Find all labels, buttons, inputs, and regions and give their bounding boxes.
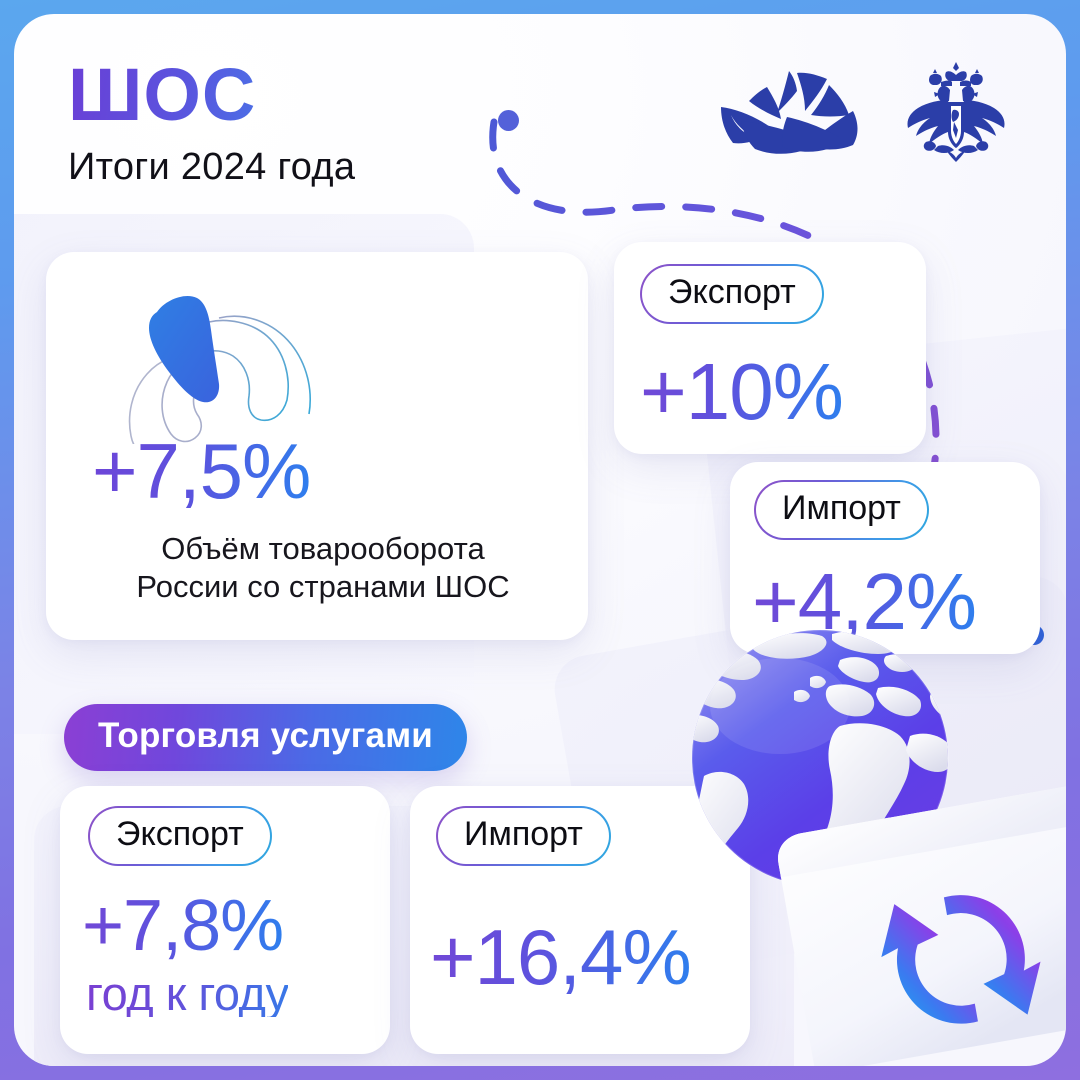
- goods-import-value: +4,2%: [752, 562, 976, 642]
- russian-coat-of-arms-icon: [902, 58, 1010, 168]
- header: ШОС Итоги 2024 года: [68, 58, 355, 189]
- turnover-caption-line2: России со странами ШОС: [88, 568, 558, 606]
- poster-frame: ШОС Итоги 2024 года: [0, 0, 1080, 1080]
- services-trade-badge: Торговля услугами: [64, 704, 467, 771]
- page-title: ШОС: [68, 58, 355, 132]
- goods-import-label-pill: Импорт: [756, 482, 927, 538]
- page-subtitle: Итоги 2024 года: [68, 146, 355, 189]
- goods-export-value: +10%: [640, 352, 843, 432]
- services-export-note: год к году: [86, 970, 288, 1017]
- pie-chart-icon: [101, 274, 329, 444]
- turnover-value: +7,5%: [92, 432, 310, 510]
- poster-canvas: ШОС Итоги 2024 года: [14, 14, 1066, 1066]
- sco-lotus-emblem-icon: [701, 65, 876, 161]
- services-import-value: +16,4%: [430, 918, 691, 996]
- turnover-caption: Объём товарооборота России со странами Ш…: [88, 530, 558, 606]
- turnover-caption-line1: Объём товарооборота: [88, 530, 558, 568]
- services-export-value: +7,8%: [82, 890, 283, 962]
- goods-export-card: Экспорт +10%: [614, 242, 926, 454]
- decorative-dot-top: [498, 110, 519, 131]
- services-import-label-pill: Импорт: [438, 808, 609, 864]
- services-export-card: Экспорт +7,8% год к году: [60, 786, 390, 1054]
- goods-import-card: Импорт +4,2%: [730, 462, 1040, 654]
- turnover-card: +7,5% Объём товарооборота России со стра…: [46, 252, 588, 640]
- goods-export-label-pill: Экспорт: [642, 266, 822, 322]
- logo-group: [701, 58, 1010, 168]
- services-import-card: Импорт +16,4%: [410, 786, 750, 1054]
- services-export-label-pill: Экспорт: [90, 808, 270, 864]
